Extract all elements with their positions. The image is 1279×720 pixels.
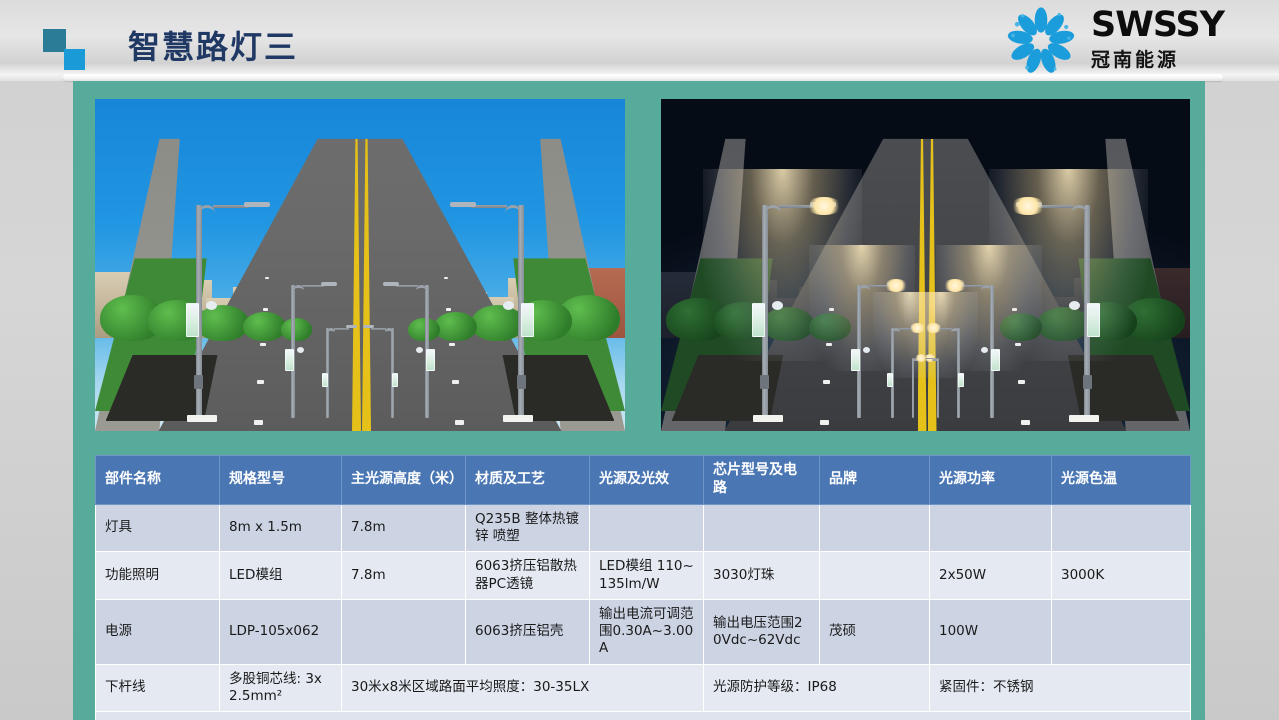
smart-street-lamp	[425, 285, 429, 418]
tree	[196, 305, 249, 342]
square-dark-icon	[43, 29, 66, 52]
spec-table-wrapper: 部件名称 规格型号 主光源高度（米） 材质及工艺 光源及光效 芯片型号及电路 品…	[95, 455, 1190, 720]
col-header-part-name: 部件名称	[96, 456, 220, 505]
cell-material: 6063挤压铝壳	[466, 599, 590, 664]
lamp-banner-sign	[887, 373, 893, 387]
smart-street-lamp	[518, 205, 524, 417]
smart-street-lamp	[391, 328, 394, 418]
cell-brand	[820, 504, 930, 552]
lamp-head	[450, 202, 476, 207]
cell-spec-model: LED模组	[220, 552, 342, 600]
lamp-banner-sign	[958, 373, 964, 387]
tree	[434, 312, 476, 342]
smart-street-lamp	[326, 328, 329, 418]
cell-material: 6063挤压铝散热器PC透镜	[466, 552, 590, 600]
square-light-icon	[64, 49, 85, 70]
lamp-head	[321, 282, 337, 286]
nighttime-street-lamp-render	[661, 99, 1190, 431]
smart-street-lamp	[196, 205, 202, 417]
road-day	[95, 99, 625, 431]
lamp-control-box	[194, 375, 203, 389]
table-footer-note-row: 主要用于城市次车道、快速通道、公路等场所（技术参数仅供参考，以用户要求配置为准）	[96, 712, 1191, 720]
smart-street-lamp	[1084, 205, 1090, 417]
lamp-bulb-icon	[943, 279, 967, 292]
lamp-bulb-icon	[806, 197, 842, 215]
smart-street-lamp	[762, 205, 768, 417]
smart-street-lamp	[957, 328, 960, 418]
lamp-base	[1069, 415, 1099, 422]
col-header-material: 材质及工艺	[466, 456, 590, 505]
lamp-base	[187, 415, 217, 422]
lamp-banner-sign	[322, 373, 328, 387]
col-header-light-efficacy: 光源及光效	[590, 456, 704, 505]
lamp-control-box	[760, 375, 769, 389]
cell-cct	[1052, 599, 1191, 664]
lamp-bulb-icon	[925, 323, 942, 333]
lamp-bulb-icon	[1010, 197, 1046, 215]
cell-light-efficacy: LED模组 110~135lm/W	[590, 552, 704, 600]
lamp-head	[383, 282, 399, 286]
cell-spec-model: LDP-105x062	[220, 599, 342, 664]
cell-illuminance: 30米x8米区域路面平均照度：30-35LX	[342, 664, 704, 712]
cell-part-name: 下杆线	[96, 664, 220, 712]
smart-street-lamp	[891, 328, 894, 418]
lamp-bulb-icon	[884, 279, 908, 292]
lamp-banner-sign	[426, 349, 435, 371]
col-header-chip-circuit: 芯片型号及电路	[704, 456, 820, 505]
lamp-head	[363, 325, 374, 328]
header-divider-rule	[63, 74, 1223, 81]
tree	[762, 307, 815, 342]
tree	[281, 318, 313, 341]
smart-street-lamp	[990, 285, 994, 418]
cell-chip-circuit: 3030灯珠	[704, 552, 820, 600]
cell-spec-model: 8m x 1.5m	[220, 504, 342, 552]
cell-light-height	[342, 599, 466, 664]
smart-street-lamp	[912, 358, 914, 418]
lane-marking-right	[1021, 139, 1028, 431]
logo-text-block: SWSSY 冠南能源	[1091, 6, 1261, 72]
table-row: 灯具 8m x 1.5m 7.8m Q235B 整体热镀锌 喷塑	[96, 504, 1191, 552]
lamp-camera-icon	[206, 301, 217, 310]
lamp-camera-icon	[772, 301, 783, 310]
cell-light-efficacy: 输出电流可调范围0.30A~3.00A	[590, 599, 704, 664]
cell-brand: 茂硕	[820, 599, 930, 664]
col-header-power: 光源功率	[930, 456, 1052, 505]
cell-light-height: 7.8m	[342, 504, 466, 552]
cell-spec-model: 多股铜芯线: 3x2.5mm²	[220, 664, 342, 712]
cell-chip-circuit	[704, 504, 820, 552]
lamp-base	[753, 415, 783, 422]
lamp-bulb-icon	[915, 354, 927, 362]
cell-fastener: 紧固件：不锈钢	[930, 664, 1191, 712]
lamp-banner-sign	[1087, 303, 1100, 337]
lamp-head	[346, 325, 357, 328]
table-row: 电源 LDP-105x062 6063挤压铝壳 输出电流可调范围0.30A~3.…	[96, 599, 1191, 664]
cell-material: Q235B 整体热镀锌 喷塑	[466, 504, 590, 552]
cell-power	[930, 504, 1052, 552]
spec-table: 部件名称 规格型号 主光源高度（米） 材质及工艺 光源及光效 芯片型号及电路 品…	[95, 455, 1191, 720]
lane-marking-left	[254, 139, 261, 431]
smart-street-lamp	[857, 285, 861, 418]
lane-marking-right	[455, 139, 462, 431]
lamp-banner-sign	[285, 349, 294, 371]
col-header-spec-model: 规格型号	[220, 456, 342, 505]
cell-part-name: 功能照明	[96, 552, 220, 600]
cell-cct	[1052, 504, 1191, 552]
table-row-summary: 下杆线 多股铜芯线: 3x2.5mm² 30米x8米区域路面平均照度：30-35…	[96, 664, 1191, 712]
lamp-control-box	[517, 375, 526, 389]
tree	[809, 313, 851, 341]
tree	[243, 312, 285, 342]
table-header-row: 部件名称 规格型号 主光源高度（米） 材质及工艺 光源及光效 芯片型号及电路 品…	[96, 456, 1191, 505]
tree	[1000, 313, 1042, 341]
smart-street-lamp	[937, 358, 939, 418]
cell-protection: 光源防护等级：IP68	[704, 664, 930, 712]
lamp-banner-sign	[752, 303, 765, 337]
lamp-control-box	[1083, 375, 1092, 389]
daytime-street-lamp-render	[95, 99, 625, 431]
cell-light-height: 7.8m	[342, 552, 466, 600]
logo-subtitle-text: 冠南能源	[1091, 45, 1261, 72]
tree	[471, 305, 524, 342]
decorative-squares-icon	[43, 29, 89, 69]
road-night	[661, 99, 1190, 431]
cell-power: 2x50W	[930, 552, 1052, 600]
lamp-banner-sign	[392, 373, 398, 387]
col-header-cct: 光源色温	[1052, 456, 1191, 505]
slide-header: 智慧路灯三	[0, 0, 1279, 81]
cell-brand	[820, 552, 930, 600]
flower-petal-logo-icon	[999, 6, 1083, 76]
cell-part-name: 电源	[96, 599, 220, 664]
col-header-brand: 品牌	[820, 456, 930, 505]
lamp-banner-sign	[186, 303, 199, 337]
lamp-head	[244, 202, 270, 207]
lamp-banner-sign	[851, 349, 860, 371]
lamp-camera-icon	[1069, 301, 1080, 310]
table-row: 功能照明 LED模组 7.8m 6063挤压铝散热器PC透镜 LED模组 110…	[96, 552, 1191, 600]
cell-part-name: 灯具	[96, 504, 220, 552]
lamp-base	[503, 415, 533, 422]
tree	[1037, 307, 1090, 342]
lamp-banner-sign	[991, 349, 1000, 371]
tree	[408, 318, 440, 341]
col-header-light-height: 主光源高度（米）	[342, 456, 466, 505]
cell-power: 100W	[930, 599, 1052, 664]
lane-marking-left	[820, 139, 827, 431]
logo-brand-text: SWSSY	[1091, 6, 1261, 44]
table-footer-note: 主要用于城市次车道、快速通道、公路等场所（技术参数仅供参考，以用户要求配置为准）	[96, 712, 1191, 720]
company-logo: SWSSY 冠南能源	[999, 4, 1259, 78]
cell-chip-circuit: 输出电压范围20Vdc~62Vdc	[704, 599, 820, 664]
cell-cct: 3000K	[1052, 552, 1191, 600]
lamp-banner-sign	[521, 303, 534, 337]
cell-light-efficacy	[590, 504, 704, 552]
page-title: 智慧路灯三	[128, 22, 298, 68]
smart-street-lamp	[291, 285, 295, 418]
slide-root: 智慧路灯三	[0, 0, 1279, 720]
